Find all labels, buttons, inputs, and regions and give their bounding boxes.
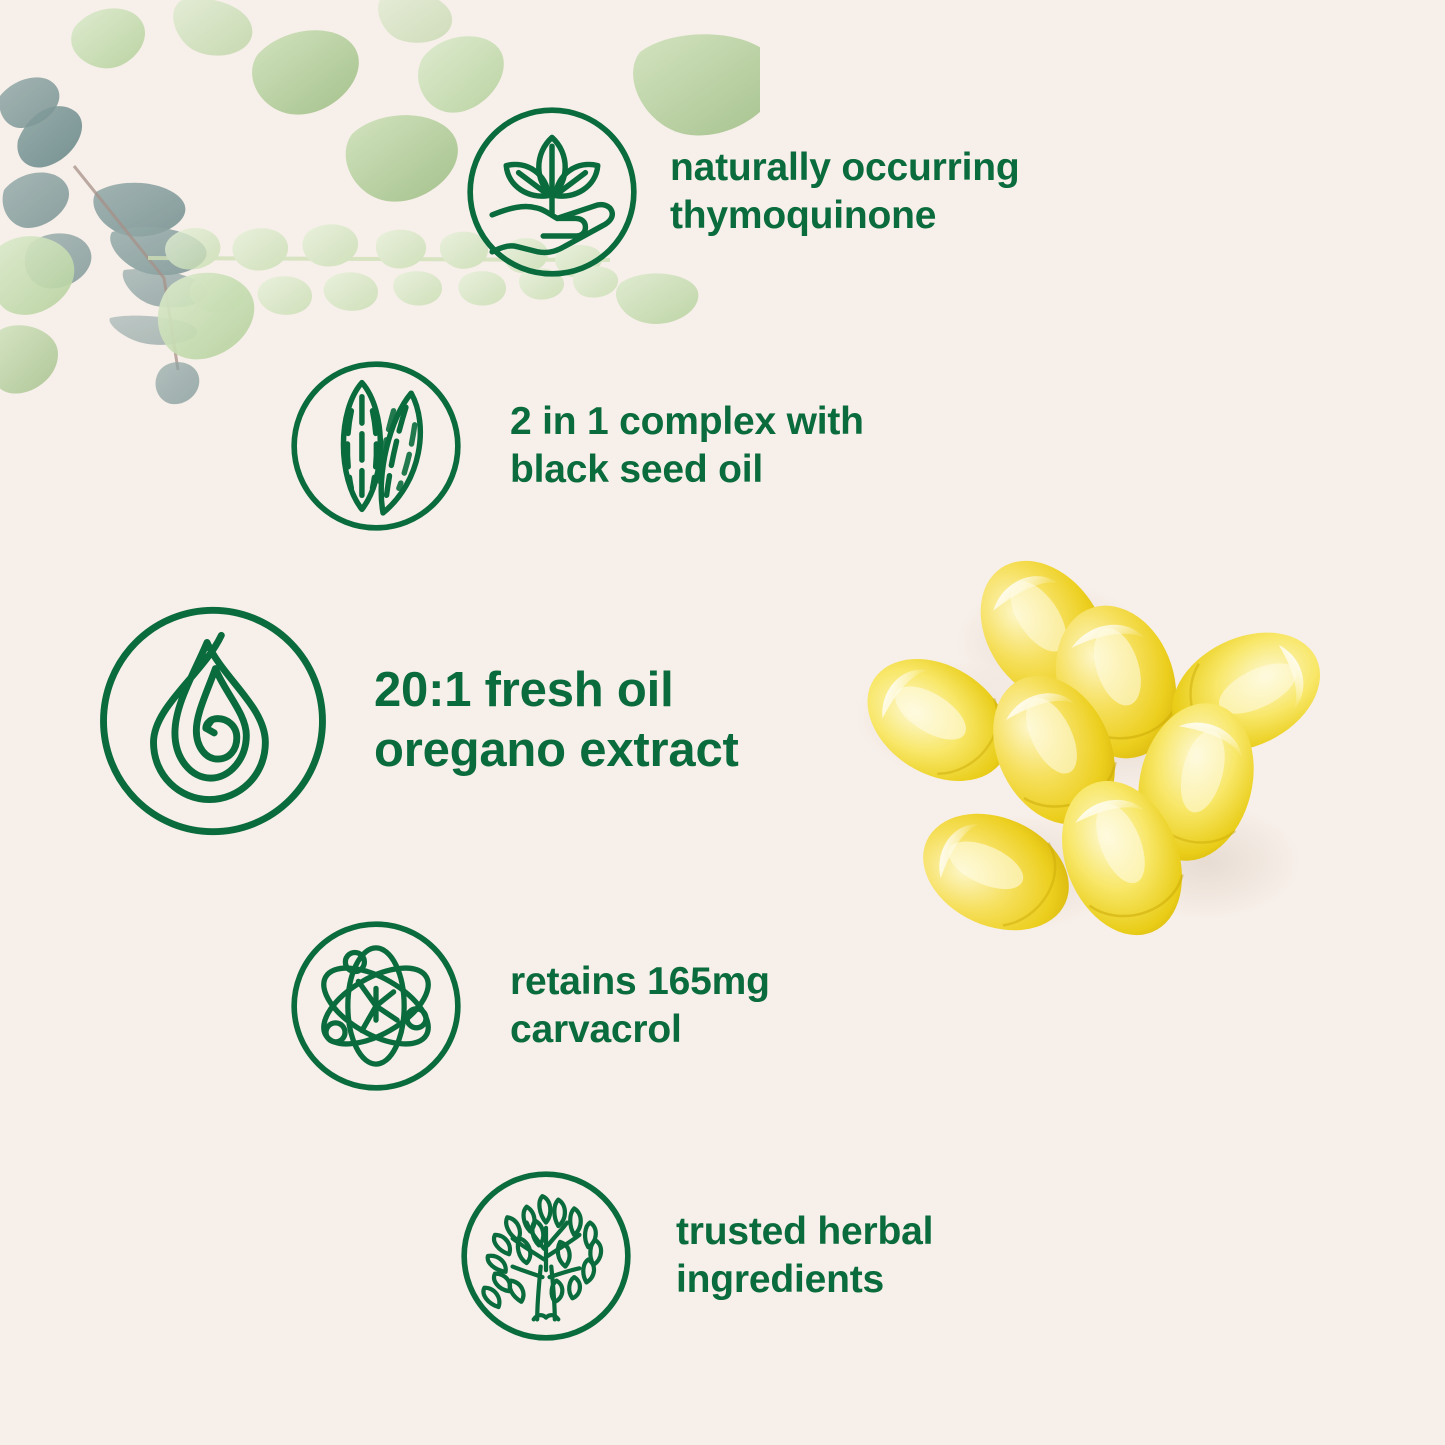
benefit-item-trusted-herbal-ingredients: trusted herbal ingredients — [458, 1168, 933, 1344]
benefit-label: 20:1 fresh oil oregano extract — [374, 661, 739, 781]
benefit-item-fresh-oil-oregano-extract: 20:1 fresh oil oregano extract — [94, 599, 739, 843]
oil-droplet-spiral-icon — [94, 599, 332, 843]
benefit-item-two-in-one-complex-black-seed-oil: 2 in 1 complex with black seed oil — [288, 358, 864, 534]
atom-molecule-icon — [288, 918, 464, 1094]
benefit-label: trusted herbal ingredients — [676, 1208, 933, 1303]
hand-holding-plant-icon — [464, 104, 640, 280]
infographic-canvas: naturally occurring thymoquinone 2 in 1 … — [0, 0, 1445, 1445]
benefit-list: naturally occurring thymoquinone 2 in 1 … — [0, 0, 1445, 1445]
benefit-item-retains-carvacrol: retains 165mg carvacrol — [288, 918, 770, 1094]
benefit-item-naturally-occurring-thymoquinone: naturally occurring thymoquinone — [464, 104, 1019, 280]
benefit-label: naturally occurring thymoquinone — [670, 144, 1019, 239]
benefit-label: 2 in 1 complex with black seed oil — [510, 398, 864, 493]
benefit-label: retains 165mg carvacrol — [510, 958, 770, 1053]
black-seed-icon — [288, 358, 464, 534]
herbal-tree-icon — [458, 1168, 634, 1344]
